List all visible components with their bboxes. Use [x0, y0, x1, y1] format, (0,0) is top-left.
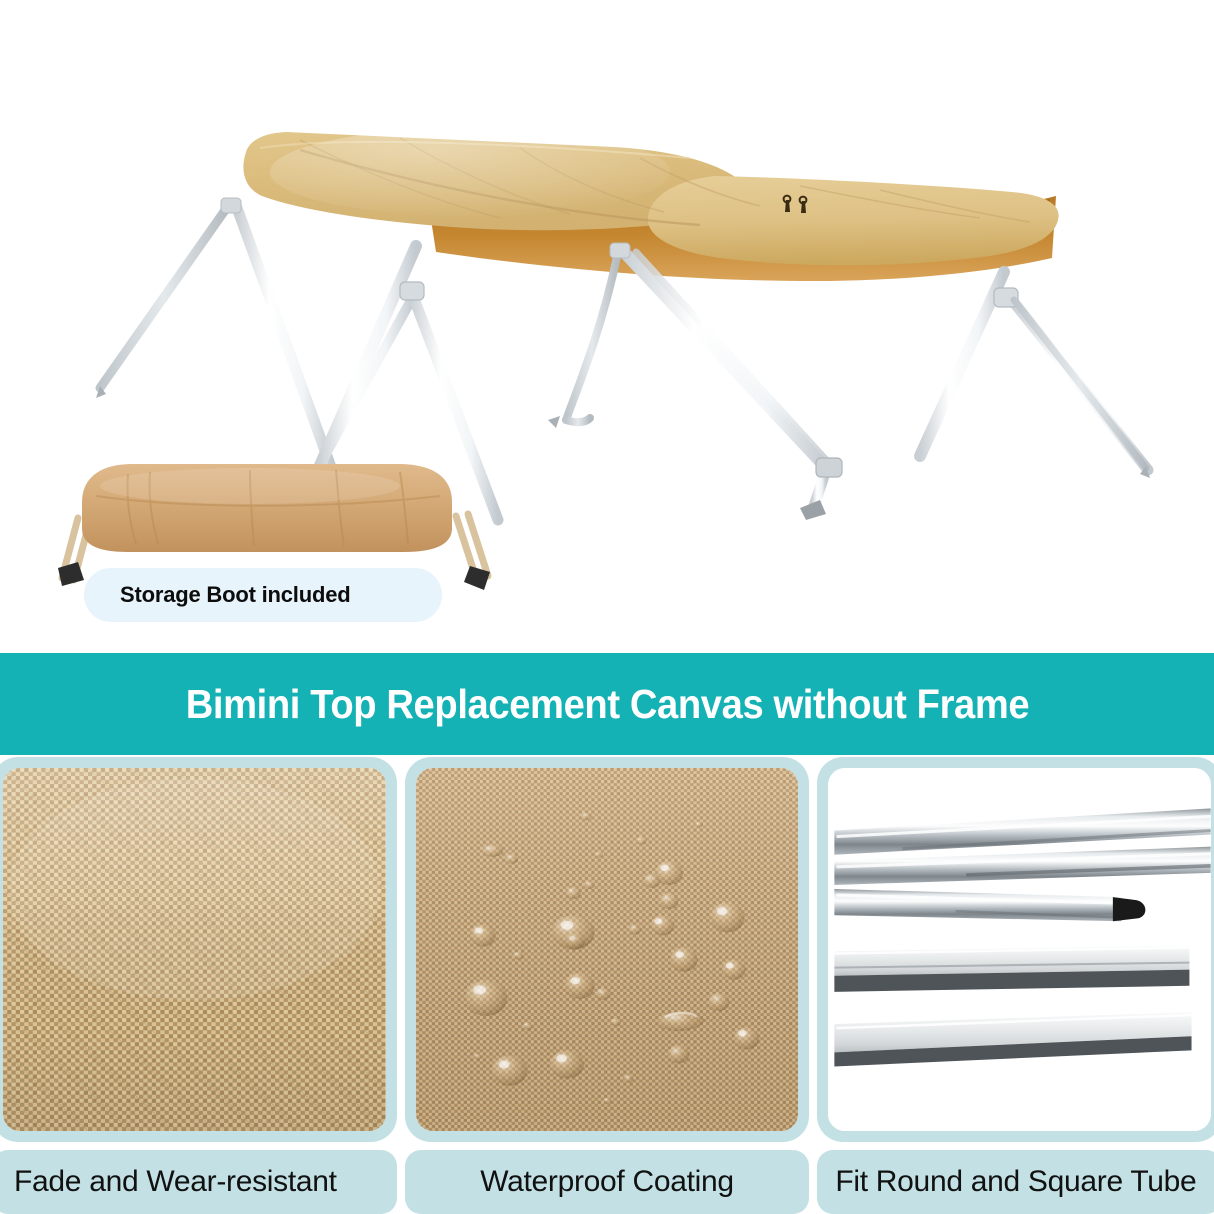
- support-strap-right: [1014, 300, 1150, 478]
- feature-card-fade-resistant: Fade and Wear-resistant: [0, 757, 397, 1214]
- feature-image-frame: [817, 757, 1214, 1142]
- feature-card-tube-fit: Fit Round and Square Tube: [817, 757, 1214, 1214]
- feature-caption-label: Waterproof Coating: [480, 1165, 734, 1199]
- feature-caption: Fade and Wear-resistant: [0, 1150, 397, 1214]
- feature-panels: Fade and Wear-resistant: [0, 757, 1214, 1214]
- hero-product-image: Storage Boot included: [0, 0, 1214, 653]
- bimini-top-illustration: [0, 0, 1214, 653]
- feature-caption: Fit Round and Square Tube: [817, 1150, 1214, 1214]
- feature-caption: Waterproof Coating: [405, 1150, 810, 1214]
- water-beading-swatch: [416, 768, 799, 1131]
- frame-joint-left: [400, 282, 424, 300]
- feature-caption-label: Fit Round and Square Tube: [835, 1165, 1196, 1199]
- storage-boot-badge-label: Storage Boot included: [120, 582, 350, 608]
- storage-boot-badge: Storage Boot included: [84, 568, 442, 622]
- feature-image-frame: [0, 757, 397, 1142]
- feature-card-waterproof: Waterproof Coating: [405, 757, 810, 1214]
- frame-foot-middle: [800, 500, 826, 520]
- support-strap-middle: [548, 243, 630, 428]
- fabric-weave-swatch: [3, 768, 386, 1131]
- feature-image-frame: [405, 757, 810, 1142]
- headline-banner-title: Bimini Top Replacement Canvas without Fr…: [185, 681, 1028, 728]
- frame-joint-middle: [816, 458, 842, 477]
- canopy-sheen: [270, 128, 670, 216]
- round-and-square-tubes: [828, 768, 1211, 1131]
- frame-leg-middle: [622, 250, 828, 512]
- frame-leg-rear-left: [236, 205, 414, 470]
- headline-banner: Bimini Top Replacement Canvas without Fr…: [0, 653, 1214, 755]
- feature-caption-label: Fade and Wear-resistant: [14, 1165, 337, 1199]
- square-tube: [835, 945, 1190, 991]
- frame-leg-right: [920, 272, 1148, 470]
- support-strap-left: [96, 198, 241, 398]
